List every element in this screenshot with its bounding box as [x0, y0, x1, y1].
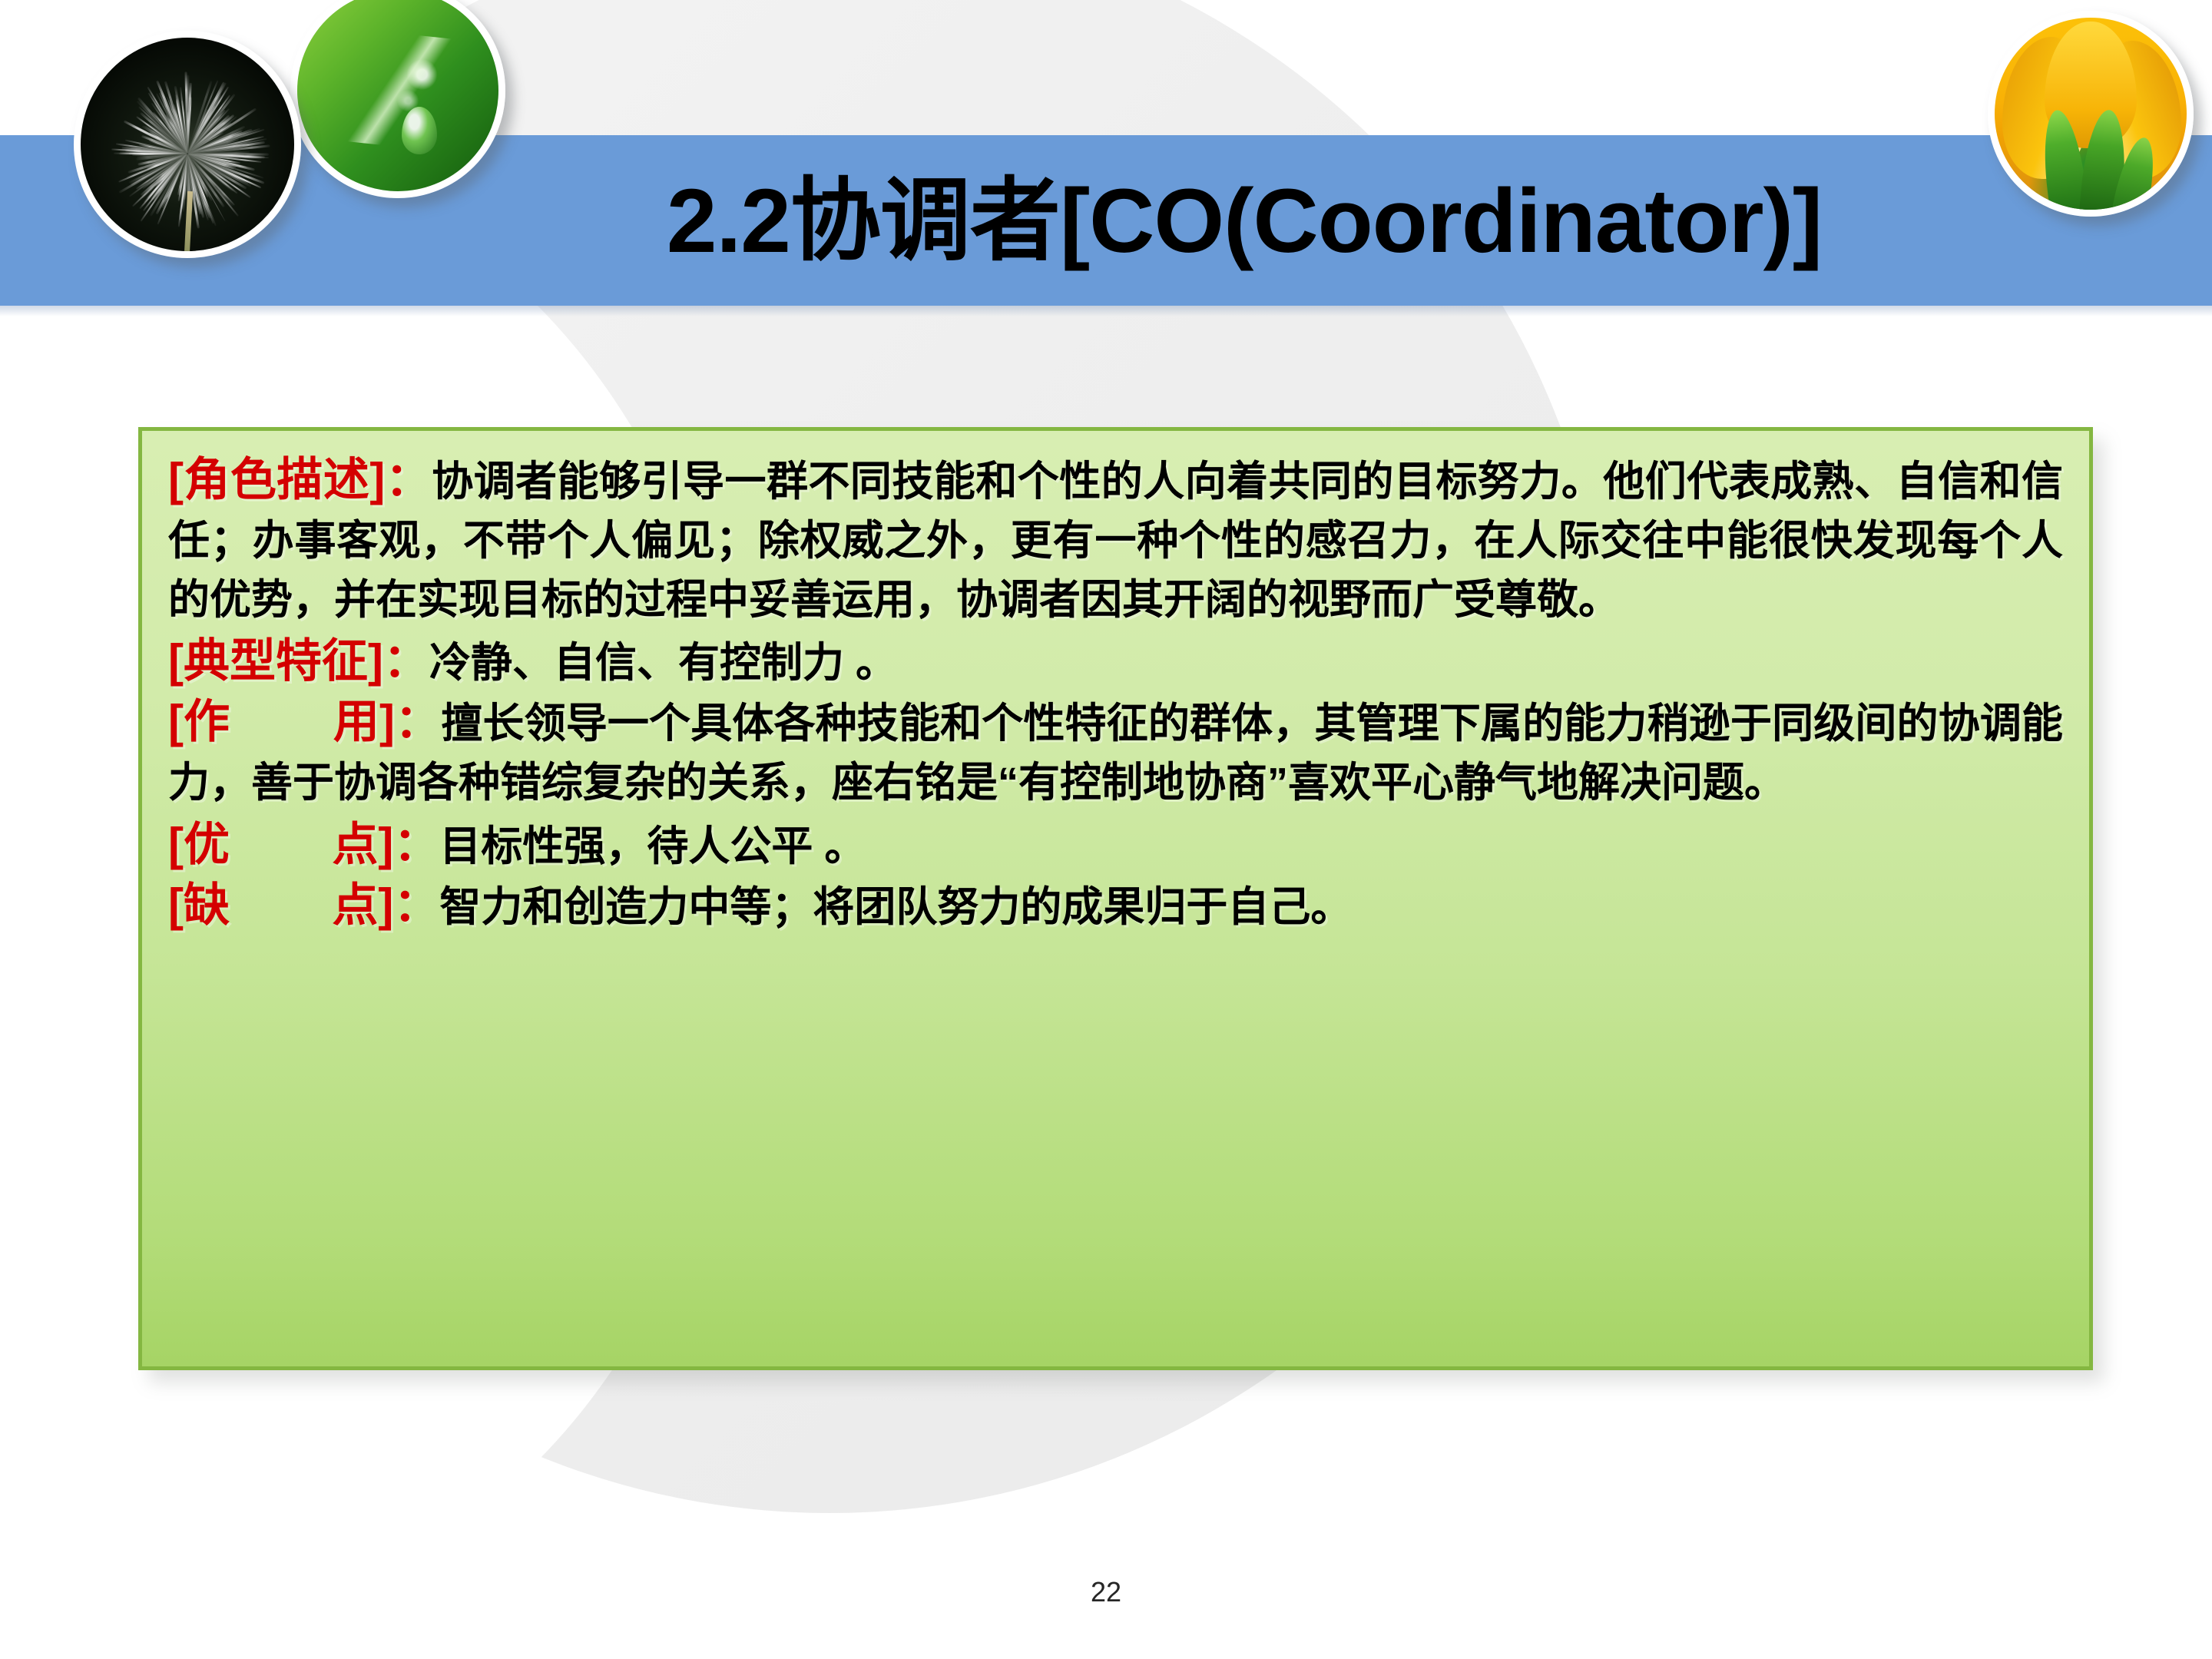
header-band-shadow: [0, 306, 2212, 316]
section-role-description: [角色描述]：协调者能够引导一群不同技能和个性的人向着共同的目标努力。他们代表成…: [168, 451, 2063, 628]
section-text-typical-traits: 冷静、自信、有控制力 。: [429, 640, 897, 686]
section-label-strengths: [优 点]: [168, 819, 393, 870]
section-text-weaknesses: 智力和创造力中等；将团队努力的成果归于自己。: [439, 884, 1352, 930]
page-number: 22: [0, 1576, 2212, 1608]
section-colon-4: ：: [393, 879, 439, 931]
slide-canvas: 2.2协调者[CO(Coordinator)] [角色描述]：协调者能够引导一群…: [0, 0, 2212, 1659]
section-label-role-description: [角色描述]: [168, 454, 385, 505]
section-label-typical-traits: [典型特征]: [168, 635, 383, 687]
section-colon-3: ：: [393, 819, 439, 870]
page-title: 2.2协调者[CO(Coordinator)]: [492, 137, 1997, 306]
section-typical-traits: [典型特征]：冷静、自信、有控制力 。: [168, 632, 2063, 691]
section-strengths: [优 点]：目标性强，待人公平 。: [168, 816, 2063, 875]
section-colon-1: ：: [383, 635, 429, 687]
orange-tulip-photo-circle: [1988, 11, 2194, 217]
section-text-function: 擅长领导一个具体各种技能和个性特征的群体，其管理下属的能力稍逊于同级间的协调能力…: [168, 700, 2063, 806]
section-text-role-description: 协调者能够引导一群不同技能和个性的人向着共同的目标努力。他们代表成熟、自信和信任…: [168, 459, 2063, 623]
section-colon-0: ：: [385, 454, 432, 505]
section-function: [作 用]：擅长领导一个具体各种技能和个性特征的群体，其管理下属的能力稍逊于同级…: [168, 693, 2063, 811]
section-colon-2: ：: [395, 696, 441, 747]
section-weaknesses: [缺 点]：智力和创造力中等；将团队努力的成果归于自己。: [168, 876, 2063, 935]
section-label-weaknesses: [缺 点]: [168, 879, 393, 931]
dandelion-photo-circle: [74, 31, 301, 258]
content-box: [角色描述]：协调者能够引导一群不同技能和个性的人向着共同的目标努力。他们代表成…: [138, 427, 2093, 1370]
section-text-strengths: 目标性强，待人公平 。: [439, 823, 866, 869]
section-label-function: [作 用]: [168, 696, 395, 747]
